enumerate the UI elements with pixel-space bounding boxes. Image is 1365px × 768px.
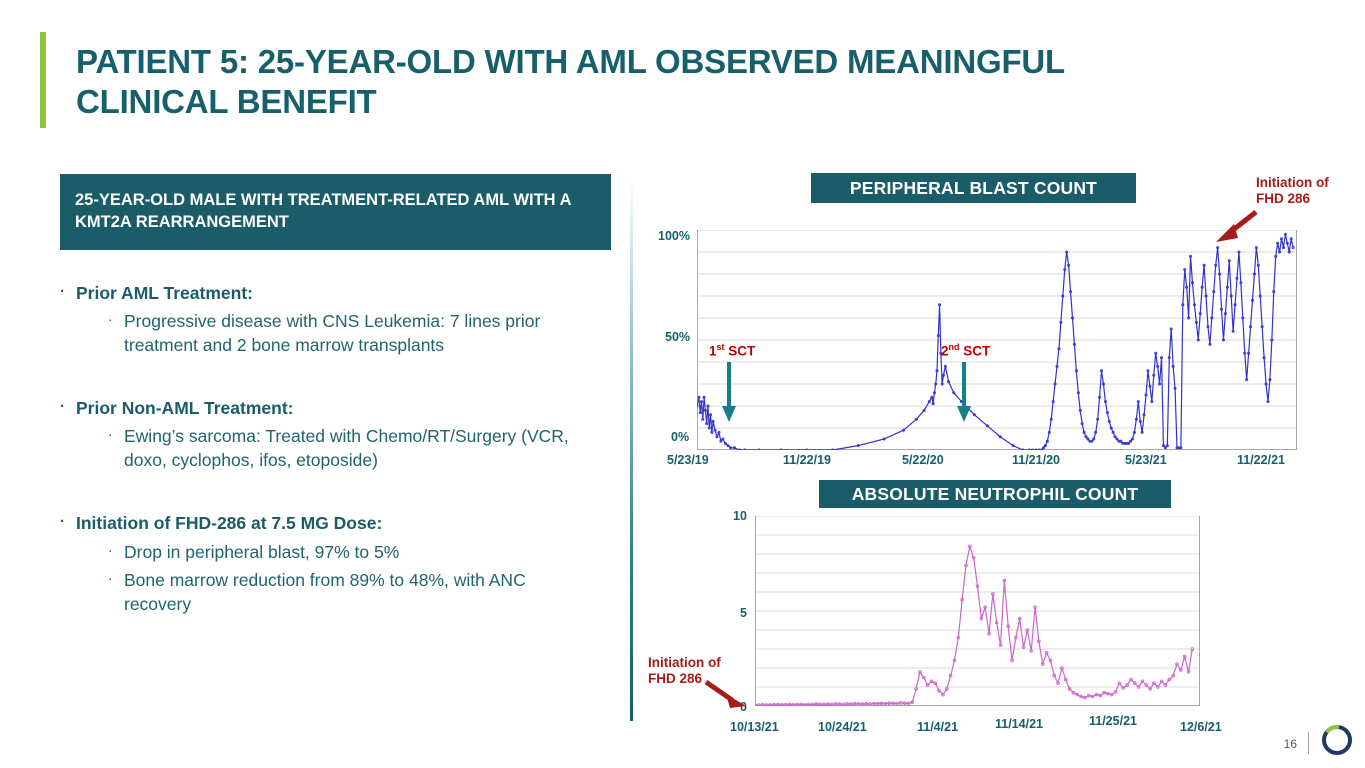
bullet-dot-icon: ·	[108, 569, 124, 588]
x-tick-label: 5/22/20	[902, 453, 944, 467]
bullet-heading: · Prior Non-AML Treatment:	[60, 397, 613, 421]
left-panel: 25-YEAR-OLD MALE WITH TREATMENT-RELATED …	[60, 174, 613, 633]
bullet-sub-label: Drop in peripheral blast, 97% to 5%	[124, 541, 399, 565]
panel-divider	[630, 176, 633, 721]
bullet-dot-icon: ·	[108, 310, 124, 329]
initiation-arrow-top-icon	[1212, 206, 1262, 248]
bullet-sub-label: Progressive disease with CNS Leukemia: 7…	[124, 310, 584, 358]
x-tick-label: 11/21/20	[1012, 453, 1060, 467]
x-tick-label: 11/14/21	[995, 717, 1043, 731]
x-tick-label: 10/24/21	[818, 720, 867, 734]
y-tick-label: 100%	[658, 229, 690, 243]
chart-peripheral-blast-count	[697, 230, 1297, 450]
x-tick-label: 5/23/19	[667, 453, 709, 467]
x-tick-label: 11/22/19	[783, 453, 831, 467]
bullet-heading-label: Prior Non-AML Treatment:	[76, 397, 293, 421]
bullet-dot-icon: ·	[108, 541, 124, 560]
x-tick-label: 11/4/21	[917, 720, 958, 734]
bullet-dot-icon: ·	[60, 512, 76, 532]
bullet-group-prior-non-aml: · Prior Non-AML Treatment: · Ewing’s sar…	[60, 397, 613, 473]
annotation-2nd-sct: 2nd SCT	[941, 342, 990, 359]
annotation-initiation-fhd286-top: Initiation of FHD 286	[1256, 175, 1329, 208]
footer-divider	[1308, 732, 1309, 754]
bullet-list: · Prior AML Treatment: · Progressive dis…	[60, 282, 613, 617]
bullet-sub-item: · Progressive disease with CNS Leukemia:…	[108, 310, 613, 358]
annotation-1st-sct: 1st SCT	[709, 342, 755, 359]
spacer	[60, 489, 613, 512]
bullet-sub-item: · Ewing’s sarcoma: Treated with Chemo/RT…	[108, 425, 613, 473]
bullet-heading-label: Initiation of FHD-286 at 7.5 MG Dose:	[76, 512, 382, 536]
bullet-heading: · Initiation of FHD-286 at 7.5 MG Dose:	[60, 512, 613, 536]
bullet-sub-label: Ewing’s sarcoma: Treated with Chemo/RT/S…	[124, 425, 584, 473]
bullet-sub-label: Bone marrow reduction from 89% to 48%, w…	[124, 569, 584, 617]
brand-logo-icon	[1317, 720, 1357, 760]
page-number: 16	[1284, 737, 1297, 751]
sct1-arrow-icon	[719, 362, 739, 424]
bullet-sub-item: · Bone marrow reduction from 89% to 48%,…	[108, 569, 613, 617]
x-tick-label: 11/22/21	[1237, 453, 1285, 467]
slide-root: PATIENT 5: 25-YEAR-OLD WITH AML OBSERVED…	[0, 0, 1365, 768]
bullet-dot-icon: ·	[60, 397, 76, 417]
page-title: PATIENT 5: 25-YEAR-OLD WITH AML OBSERVED…	[76, 42, 1186, 121]
chart-title-absolute-neutrophil-count: ABSOLUTE NEUTROPHIL COUNT	[819, 480, 1171, 508]
x-tick-label: 11/25/21	[1089, 714, 1137, 728]
title-accent-bar	[40, 32, 46, 128]
bullet-dot-icon: ·	[108, 425, 124, 444]
bullet-group-initiation: · Initiation of FHD-286 at 7.5 MG Dose: …	[60, 512, 613, 617]
spacer	[60, 374, 613, 397]
initiation-arrow-bottom-icon	[704, 678, 750, 712]
y-tick-label: 0%	[671, 430, 689, 444]
bullet-sub-item: · Drop in peripheral blast, 97% to 5%	[108, 541, 613, 565]
chart-title-peripheral-blast-count: PERIPHERAL BLAST COUNT	[811, 173, 1136, 203]
y-tick-label: 10	[733, 509, 747, 523]
sct2-arrow-icon	[954, 362, 974, 424]
y-tick-label: 50%	[665, 330, 690, 344]
x-tick-label: 10/13/21	[730, 720, 779, 734]
x-tick-label: 12/6/21	[1180, 720, 1222, 734]
bullet-heading-label: Prior AML Treatment:	[76, 282, 253, 306]
patient-summary-banner: 25-YEAR-OLD MALE WITH TREATMENT-RELATED …	[60, 174, 611, 250]
chart-absolute-neutrophil-count	[755, 516, 1200, 706]
x-tick-label: 5/23/21	[1125, 453, 1167, 467]
bullet-dot-icon: ·	[60, 282, 76, 302]
bullet-group-prior-aml: · Prior AML Treatment: · Progressive dis…	[60, 282, 613, 358]
bullet-heading: · Prior AML Treatment:	[60, 282, 613, 306]
y-tick-label: 5	[740, 606, 747, 620]
